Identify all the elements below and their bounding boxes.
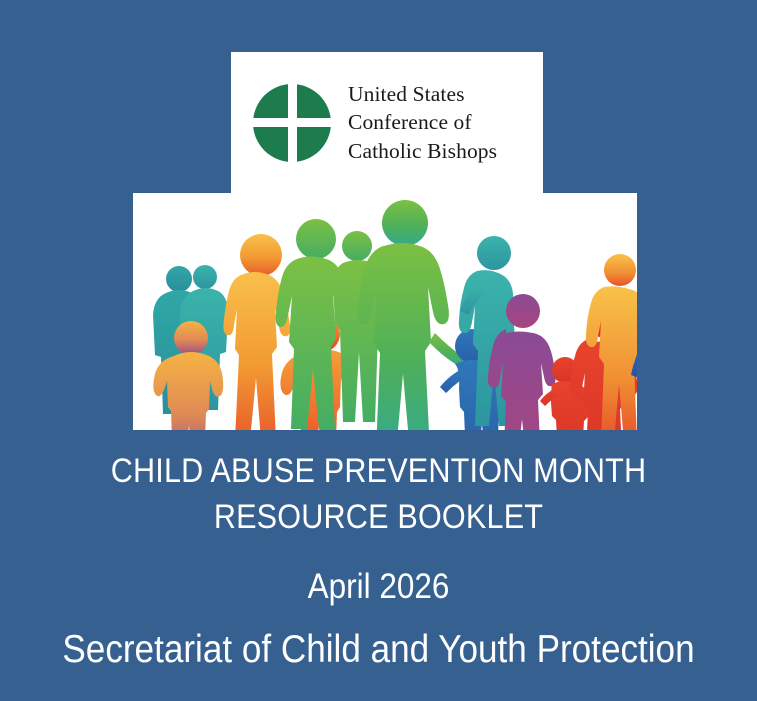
logo-cross-horizontal [250, 118, 334, 127]
usccb-circle-cross-icon [253, 84, 331, 162]
family-silhouettes-illustration [133, 193, 637, 430]
publication-date: April 2026 [38, 562, 719, 612]
logo-text-line-2: Conference of [348, 108, 497, 137]
page-title-line-1: CHILD ABUSE PREVENTION MONTH [38, 448, 719, 494]
artwork-panel [133, 193, 637, 430]
silhouette-adult-woman-orange [223, 234, 290, 430]
logo-text-line-1: United States [348, 80, 497, 109]
logo-panel: United States Conference of Catholic Bis… [231, 52, 543, 193]
logo-wordmark: United States Conference of Catholic Bis… [348, 80, 497, 166]
page-title-line-2: RESOURCE BOOKLET [38, 494, 719, 540]
cover-text-block: CHILD ABUSE PREVENTION MONTH RESOURCE BO… [0, 448, 757, 676]
organization-name: Secretariat of Child and Youth Protectio… [38, 624, 719, 676]
cover-page: United States Conference of Catholic Bis… [0, 0, 757, 701]
logo-text-line-3: Catholic Bishops [348, 137, 497, 166]
